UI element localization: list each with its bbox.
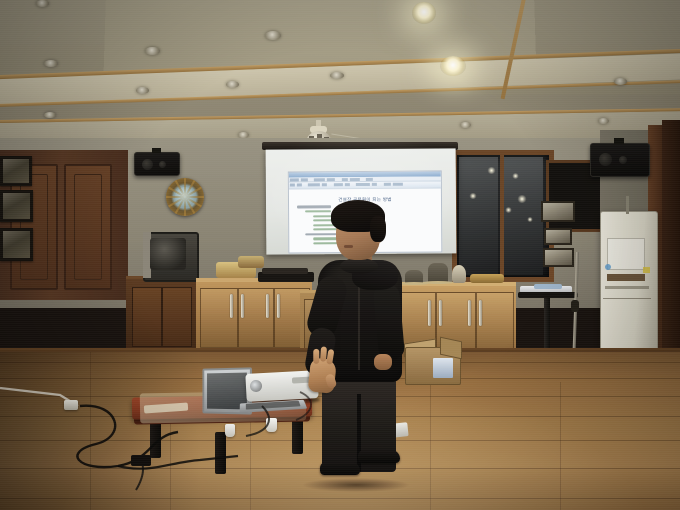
downlight (226, 81, 239, 88)
downlight (330, 72, 344, 79)
room-photo: 건설장 공무원이 되는 방법 (0, 0, 680, 510)
presenter (300, 198, 412, 492)
ceiling (0, 0, 680, 150)
sunburst-wall-clock-icon (166, 178, 204, 216)
power-adapter (131, 455, 151, 466)
speaker-bracket-left (152, 148, 161, 153)
wall-speaker-left (134, 152, 180, 176)
downlight (598, 118, 609, 124)
crt-screen (150, 238, 186, 270)
wood-door-right[interactable] (64, 164, 112, 290)
downlight (44, 112, 56, 118)
decorative-object (470, 274, 504, 283)
shoe-right (358, 450, 400, 463)
downlight-lit (412, 2, 436, 24)
speaker-bracket-right (614, 138, 624, 144)
wall-speaker-right (590, 143, 650, 177)
hat-brim (423, 281, 453, 284)
downlight-lit (440, 56, 466, 76)
presenter-hair-side (370, 216, 386, 242)
downlight (460, 122, 471, 128)
downlight (36, 0, 49, 7)
presenter-mouth (344, 245, 353, 248)
downlight (136, 87, 149, 94)
framed-picture-right (543, 248, 574, 267)
framed-picture-right (541, 201, 575, 222)
shoe-left (320, 462, 360, 475)
framed-picture-right (544, 228, 572, 245)
downlight (614, 78, 627, 85)
hat-display (428, 263, 448, 283)
stand-adjust-knob[interactable] (571, 300, 579, 312)
downlight (145, 47, 160, 55)
boxes-on-cabinet (238, 256, 264, 268)
framed-photo (0, 190, 33, 222)
downlight (44, 60, 58, 67)
presenter-right-hand (374, 354, 392, 370)
papers-on-stand (534, 284, 562, 289)
framed-photo (0, 228, 33, 261)
presenter-raised-forearm (303, 326, 337, 378)
jacket-zipper (358, 278, 360, 370)
jacket-collar (340, 258, 378, 274)
night-window (452, 150, 554, 282)
extension-outlet[interactable] (64, 400, 78, 410)
framed-photo (0, 156, 32, 186)
ac-vertical-pipe (626, 196, 629, 214)
slide-toolbar (289, 181, 441, 189)
decorative-object (452, 265, 466, 283)
downlight (265, 31, 281, 40)
